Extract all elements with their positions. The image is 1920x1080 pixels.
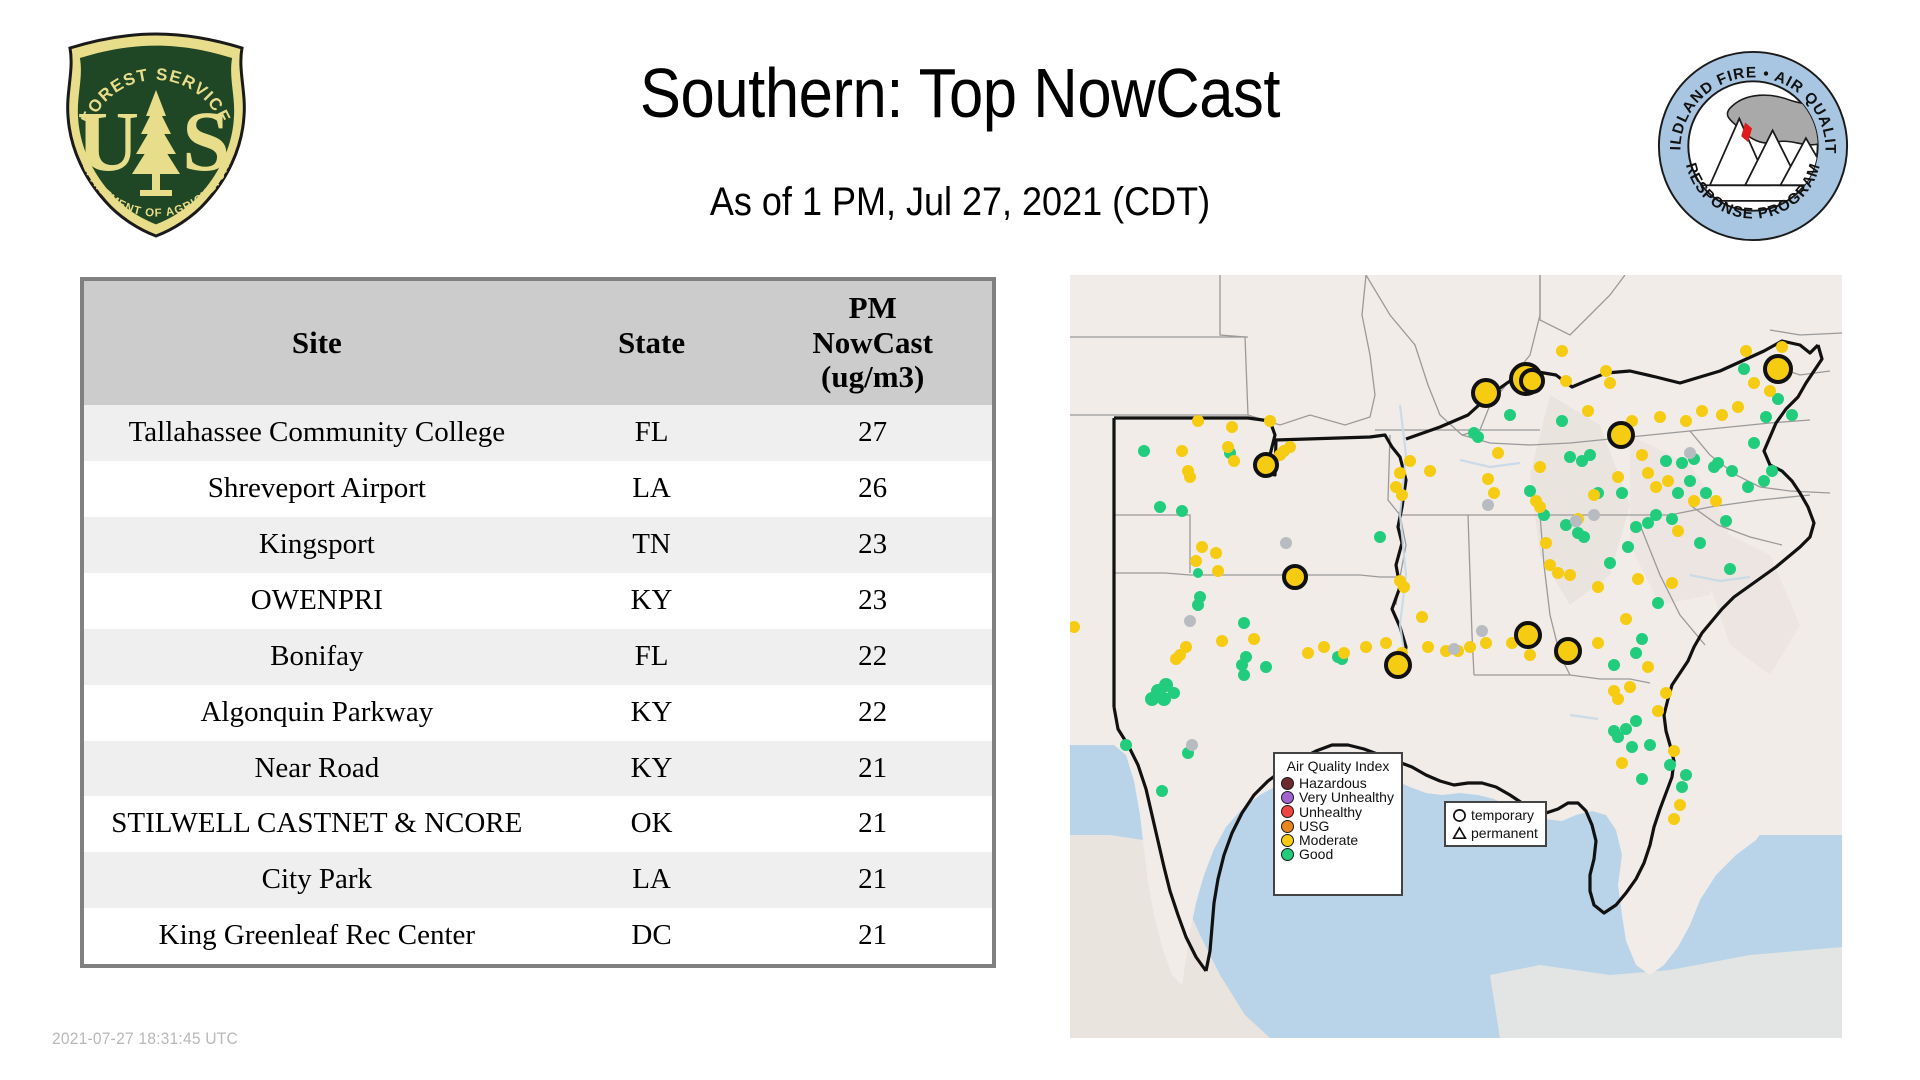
table-row[interactable]: Near RoadKY21 [84, 741, 992, 797]
table-row[interactable]: Algonquin ParkwayKY22 [84, 685, 992, 741]
table-row[interactable]: OWENPRIKY23 [84, 573, 992, 629]
aqi-legend-label: Moderate [1299, 833, 1358, 847]
cell-site: STILWELL CASTNET & NCORE [84, 796, 550, 852]
cell-state: OK [550, 796, 754, 852]
cell-pm-nowcast: 23 [753, 573, 992, 629]
cell-state: KY [550, 741, 754, 797]
legend-row-temporary: temporary [1451, 806, 1541, 824]
temporary-circle-icon [1451, 806, 1468, 824]
cell-pm-nowcast: 23 [753, 517, 992, 573]
aqi-swatch-icon [1281, 777, 1294, 790]
table-header-row: Site State PM NowCast (ug/m3) [84, 281, 992, 405]
aqi-legend-row: Unhealthy [1281, 805, 1395, 819]
page-title: Southern: Top NowCast [115, 58, 1805, 128]
cell-pm-nowcast: 21 [753, 741, 992, 797]
aqi-swatch-icon [1281, 834, 1294, 847]
aqi-legend-row: USG [1281, 819, 1395, 833]
aqi-legend-row: Hazardous [1281, 776, 1395, 790]
cell-state: KY [550, 685, 754, 741]
cell-pm-nowcast: 27 [753, 405, 992, 461]
monitor-type-legend: temporary permanent [1444, 801, 1547, 847]
pm-line-3: (ug/m3) [759, 360, 986, 395]
column-header-site[interactable]: Site [84, 281, 550, 405]
cell-state: KY [550, 573, 754, 629]
cell-site: OWENPRI [84, 573, 550, 629]
aqi-legend-label: Very Unhealthy [1299, 790, 1394, 804]
table-row[interactable]: BonifayFL22 [84, 629, 992, 685]
aqi-legend-items: HazardousVery UnhealthyUnhealthyUSGModer… [1281, 776, 1395, 862]
aqi-legend-label: Unhealthy [1299, 805, 1362, 819]
table-row[interactable]: Tallahassee Community CollegeFL27 [84, 405, 992, 461]
cell-state: TN [550, 517, 754, 573]
generation-timestamp: 2021-07-27 18:31:45 UTC [52, 1029, 238, 1049]
aqi-legend-title: Air Quality Index [1281, 758, 1395, 774]
cell-state: FL [550, 405, 754, 461]
cell-state: FL [550, 629, 754, 685]
nowcast-table: Site State PM NowCast (ug/m3) Tallahasse… [84, 281, 992, 964]
aqi-legend-label: USG [1299, 819, 1329, 833]
cell-state: LA [550, 461, 754, 517]
cell-site: Tallahassee Community College [84, 405, 550, 461]
pm-line-2: NowCast [759, 326, 986, 361]
table-body: Tallahassee Community CollegeFL27Shrevep… [84, 405, 992, 964]
aqi-swatch-icon [1281, 791, 1294, 804]
cell-pm-nowcast: 21 [753, 908, 992, 964]
top-site-marker-shreveport [1284, 566, 1306, 588]
cell-pm-nowcast: 21 [753, 852, 992, 908]
aqi-legend-row: Very Unhealthy [1281, 790, 1395, 804]
cell-pm-nowcast: 22 [753, 685, 992, 741]
aqi-legend-row: Moderate [1281, 833, 1395, 847]
aqi-swatch-icon [1281, 805, 1294, 818]
column-header-state[interactable]: State [550, 281, 754, 405]
cell-pm-nowcast: 22 [753, 629, 992, 685]
cell-site: Bonifay [84, 629, 550, 685]
aqi-legend-label: Good [1299, 847, 1333, 861]
top-site-marker-king-greenleaf [1765, 356, 1791, 382]
top-site-marker-city-park [1386, 653, 1410, 677]
top-site-marker-owenpri [1473, 380, 1499, 406]
table-row[interactable]: King Greenleaf Rec CenterDC21 [84, 908, 992, 964]
top-site-marker-bonifay [1516, 623, 1540, 647]
cell-state: LA [550, 852, 754, 908]
top-site-marker-near-road [1521, 370, 1543, 392]
map-svg[interactable] [1070, 275, 1842, 1038]
top-site-marker-tallahassee [1556, 639, 1580, 663]
column-header-pm-nowcast[interactable]: PM NowCast (ug/m3) [753, 281, 992, 405]
top-site-marker-kingsport [1609, 423, 1633, 447]
cell-site: King Greenleaf Rec Center [84, 908, 550, 964]
nowcast-table-container: Site State PM NowCast (ug/m3) Tallahasse… [80, 277, 996, 968]
table-row[interactable]: STILWELL CASTNET & NCOREOK21 [84, 796, 992, 852]
table-row[interactable]: City ParkLA21 [84, 852, 992, 908]
legend-label-temporary: temporary [1471, 808, 1534, 822]
page-subtitle: As of 1 PM, Jul 27, 2021 (CDT) [96, 182, 1824, 222]
cell-pm-nowcast: 26 [753, 461, 992, 517]
aqi-legend-label: Hazardous [1299, 776, 1367, 790]
permanent-triangle-icon [1451, 824, 1468, 842]
cell-state: DC [550, 908, 754, 964]
pm-line-1: PM [759, 291, 986, 326]
cell-site: Near Road [84, 741, 550, 797]
cell-site: Shreveport Airport [84, 461, 550, 517]
aqi-swatch-icon [1281, 820, 1294, 833]
table-head: Site State PM NowCast (ug/m3) [84, 281, 992, 405]
cell-pm-nowcast: 21 [753, 796, 992, 852]
table-row[interactable]: Shreveport AirportLA26 [84, 461, 992, 517]
aqi-swatch-icon [1281, 848, 1294, 861]
aqi-legend: Air Quality Index HazardousVery Unhealth… [1273, 752, 1403, 896]
legend-label-permanent: permanent [1471, 826, 1538, 840]
air-quality-map[interactable] [1070, 275, 1842, 1038]
top-site-marker-stilwell [1255, 454, 1277, 476]
cell-site: Kingsport [84, 517, 550, 573]
aqi-legend-row: Good [1281, 847, 1395, 861]
cell-site: City Park [84, 852, 550, 908]
cell-site: Algonquin Parkway [84, 685, 550, 741]
table-row[interactable]: KingsportTN23 [84, 517, 992, 573]
legend-row-permanent: permanent [1451, 824, 1541, 842]
